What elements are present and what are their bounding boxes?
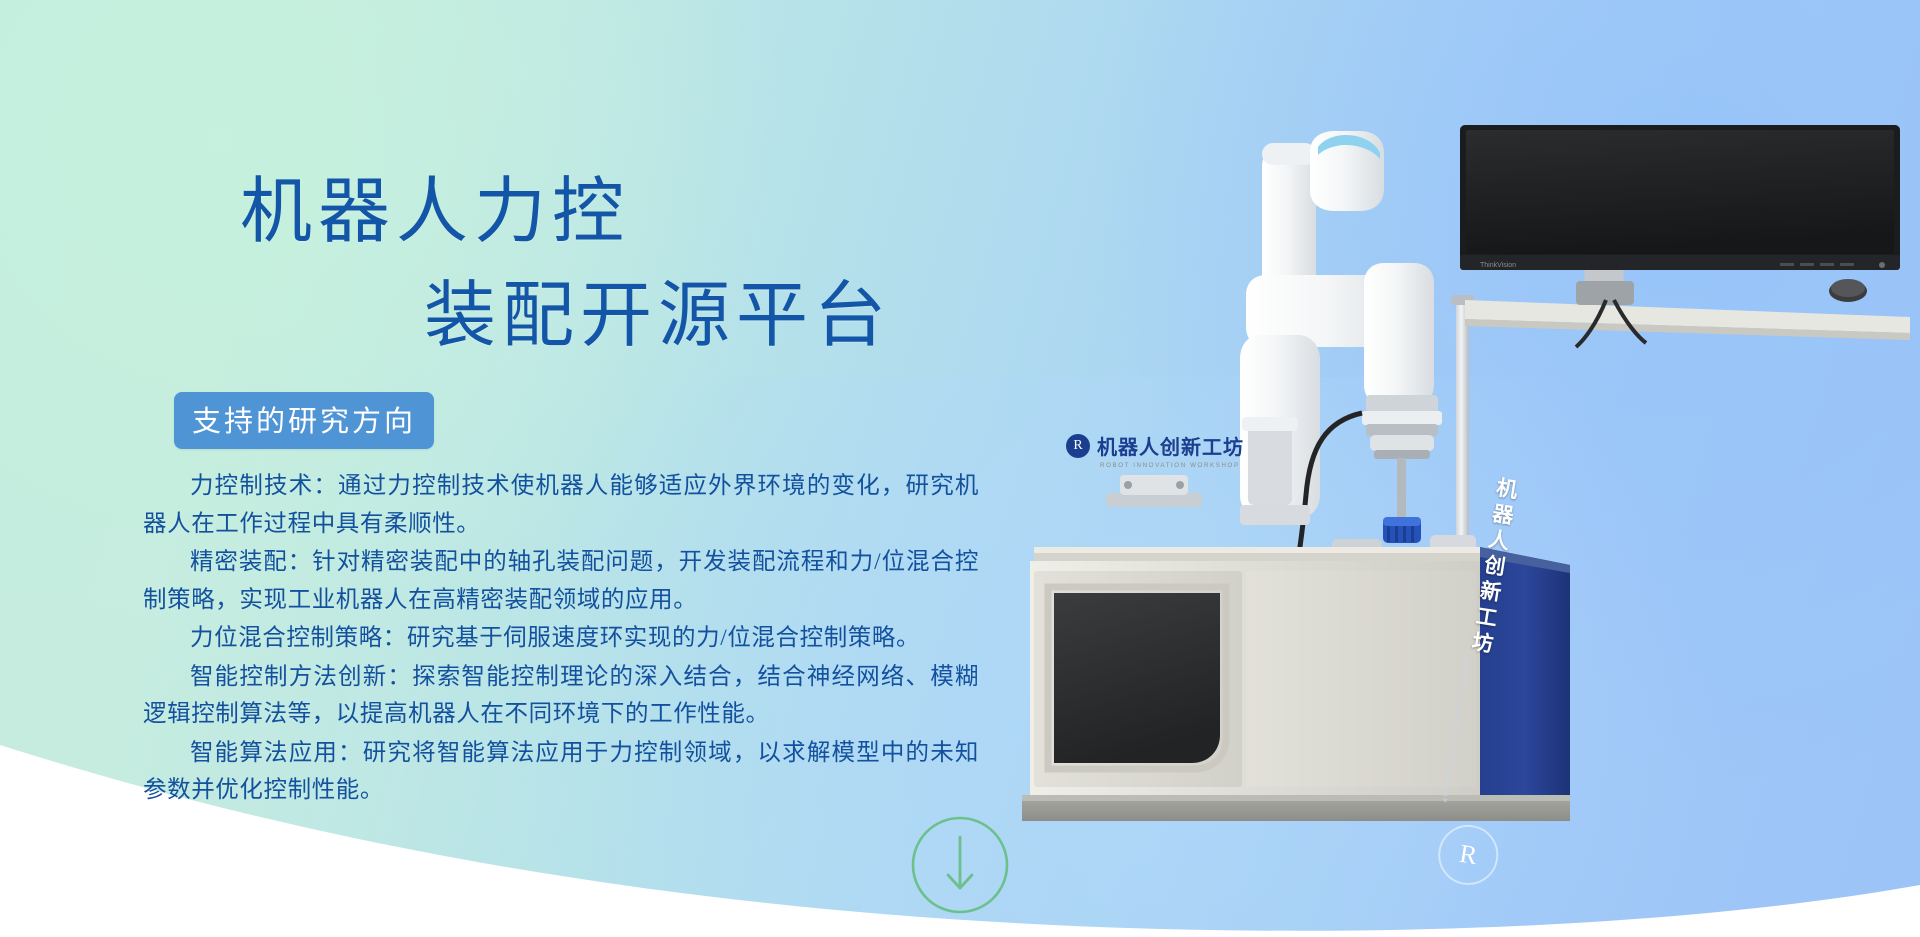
platform-photo: ThinkVision [1010, 95, 1920, 825]
research-item: 力控制技术：通过力控制技术使机器人能够适应外界环境的变化，研究机器人在工作过程中… [143, 468, 979, 543]
end-effector [1383, 517, 1421, 543]
research-item: 智能算法应用：研究将智能算法应用于力控制领域，以求解模型中的未知参数并优化控制性… [143, 735, 979, 810]
page-title: 机器人力控 装配开源平台 [240, 176, 892, 352]
research-item: 精密装配：针对精密装配中的轴孔装配问题，开发装配流程和力/位混合控制策略，实现工… [143, 544, 979, 619]
probe-shaft [1397, 458, 1406, 520]
cabinet-right-door [1246, 571, 1476, 787]
research-item: 力位混合控制策略：研究基于伺服速度环实现的力/位混合控制策略。 [143, 620, 979, 658]
arrow-down-icon[interactable] [910, 815, 1010, 915]
force-sensor [1362, 395, 1442, 459]
hero-text-column: 机器人力控 装配开源平台 支持的研究方向 力控制技术：通过力控制技术使机器人能够… [0, 0, 1010, 937]
research-item: 智能控制方法创新：探索智能控制理论的深入结合，结合神经网络、模糊逻辑控制算法等，… [143, 659, 979, 734]
hero-banner: ThinkVision [0, 0, 1920, 937]
cabinet-logo-en: ROBOT INNOVATION WORKSHOP [1100, 462, 1240, 469]
monitor-brand-label: ThinkVision [1480, 262, 1516, 269]
workshop-logo-icon: R [1066, 434, 1090, 458]
side-panel-logo-icon: R [1434, 820, 1503, 889]
monitor-screen [1466, 130, 1894, 254]
scroll-down-button[interactable] [910, 815, 1010, 915]
research-directions-list: 力控制技术：通过力控制技术使机器人能够适应外界环境的变化，研究机器人在工作过程中… [143, 468, 979, 811]
cabinet-brand-block: R 机器人创新工坊 ROBOT INNOVATION WORKSHOP [1066, 431, 1244, 469]
viewing-window [1054, 593, 1220, 763]
title-line-1: 机器人力控 [240, 172, 630, 252]
cabinet-logo-cn: 机器人创新工坊 [1097, 431, 1244, 460]
section-badge: 支持的研究方向 [174, 392, 434, 449]
title-line-2: 装配开源平台 [424, 280, 892, 352]
